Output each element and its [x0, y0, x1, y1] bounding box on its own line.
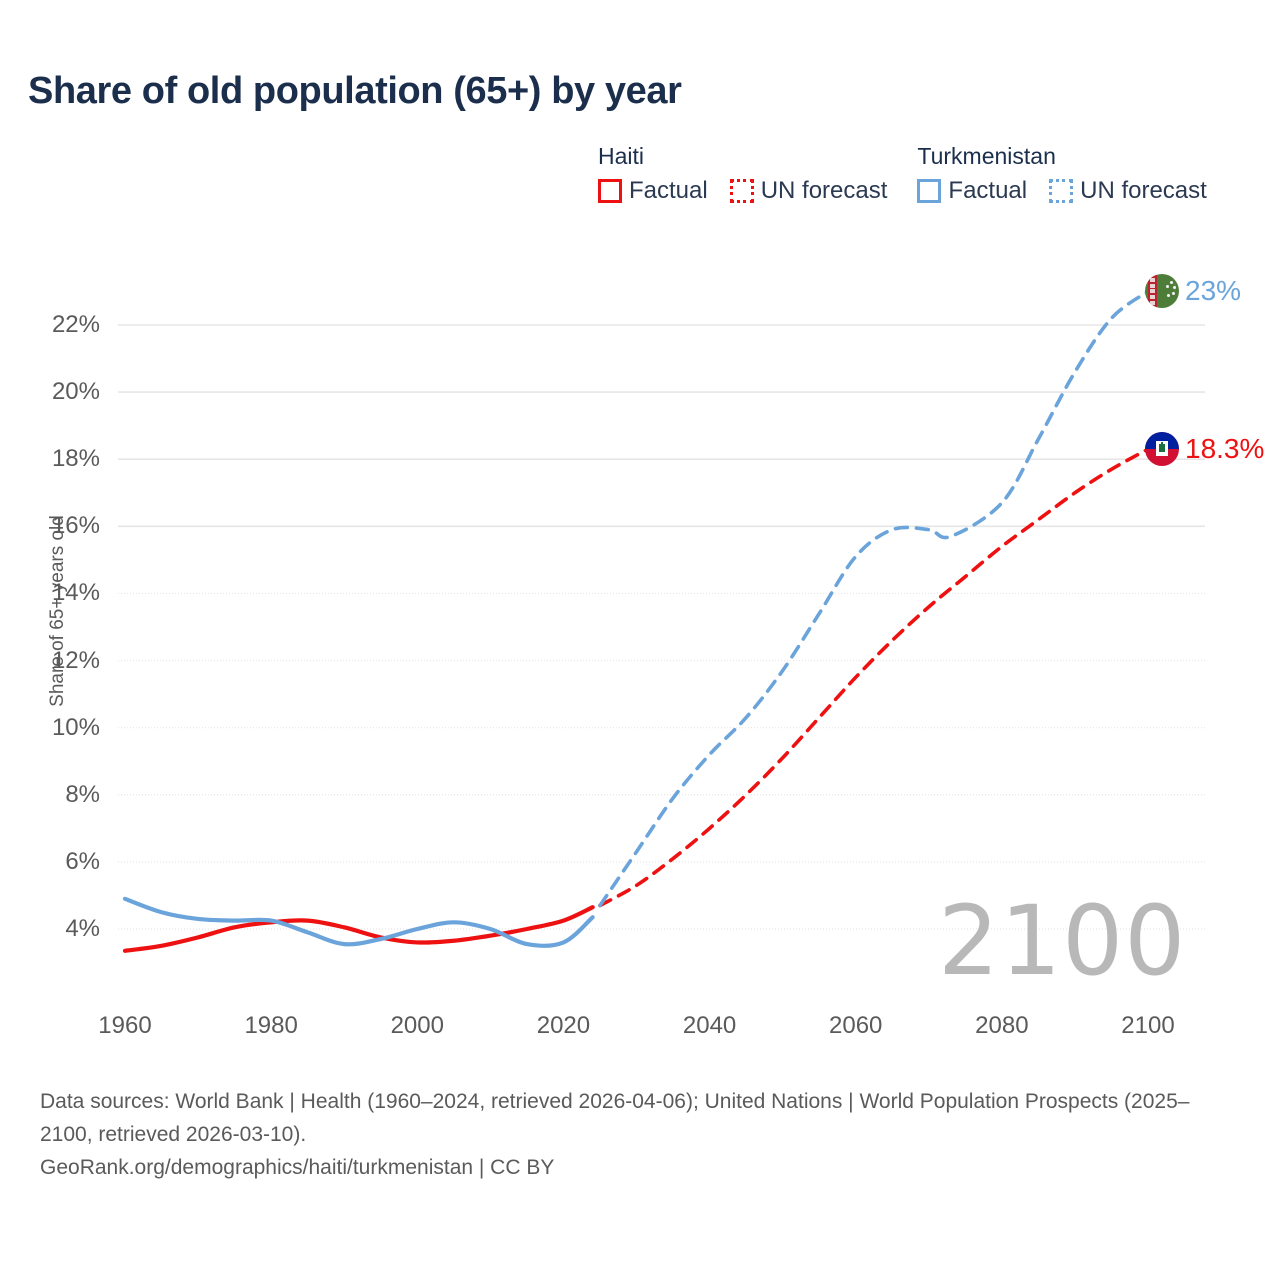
y-tick-10pct: 10%	[0, 714, 100, 742]
x-tick-2060: 2060	[829, 1012, 882, 1040]
endpoint-turkmenistan: 23%	[1145, 274, 1241, 308]
series-lines	[125, 291, 1148, 950]
footer-line-attribution: GeoRank.org/demographics/haiti/turkmenis…	[40, 1151, 1190, 1184]
y-tick-20pct: 20%	[0, 378, 100, 406]
chart-page: Share of old population (65+) by year Ha…	[0, 0, 1280, 1280]
y-tick-14pct: 14%	[0, 579, 100, 607]
series-line-haiti-dotted	[600, 449, 1148, 905]
footer-sources: Data sources: World Bank | Health (1960–…	[40, 1085, 1190, 1184]
endpoint-value-haiti: 18.3%	[1185, 433, 1264, 465]
endpoint-value-turkmenistan: 23%	[1185, 275, 1241, 307]
haiti-flag-icon	[1145, 432, 1179, 466]
y-tick-22pct: 22%	[0, 311, 100, 339]
year-watermark: 2100	[938, 885, 1186, 997]
x-tick-1960: 1960	[98, 1012, 151, 1040]
y-tick-6pct: 6%	[0, 848, 100, 876]
x-tick-2000: 2000	[391, 1012, 444, 1040]
y-tick-8pct: 8%	[0, 781, 100, 809]
gridlines	[118, 325, 1205, 929]
turkmenistan-flag-icon	[1145, 274, 1179, 308]
plot-area: Share of 65+ years old 4%6%8%10%12%14%16…	[0, 0, 1280, 1070]
y-tick-16pct: 16%	[0, 512, 100, 540]
endpoint-haiti: 18.3%	[1145, 432, 1264, 466]
y-tick-4pct: 4%	[0, 915, 100, 943]
series-line-turkmenistan-dotted	[600, 291, 1148, 905]
y-tick-12pct: 12%	[0, 647, 100, 675]
footer-line-sources: Data sources: World Bank | Health (1960–…	[40, 1085, 1190, 1151]
x-tick-2020: 2020	[537, 1012, 590, 1040]
x-tick-2100: 2100	[1121, 1012, 1174, 1040]
x-tick-1980: 1980	[244, 1012, 297, 1040]
x-tick-2040: 2040	[683, 1012, 736, 1040]
x-tick-2080: 2080	[975, 1012, 1028, 1040]
y-tick-18pct: 18%	[0, 445, 100, 473]
